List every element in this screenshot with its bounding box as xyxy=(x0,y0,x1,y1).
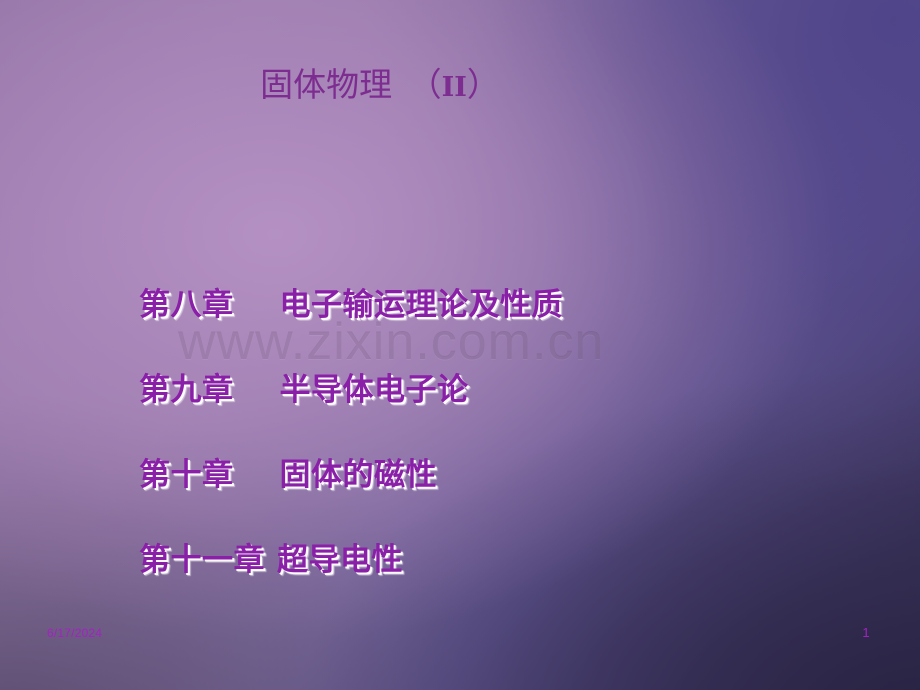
footer-date: 6/17/2024 xyxy=(47,626,102,640)
chapter-number: 第九章 xyxy=(139,372,234,408)
list-item: 第十章固体的磁性 xyxy=(139,453,839,538)
chapter-name: 超导电性 xyxy=(277,542,403,578)
list-item: 第八章电子输运理论及性质 xyxy=(139,283,839,368)
list-item: 第十一章超导电性 xyxy=(139,538,839,623)
chapter-number: 第十一章 xyxy=(139,542,265,578)
slide-title-paren-open: （ xyxy=(425,65,442,104)
chapter-number: 第十章 xyxy=(139,457,234,493)
chapter-name: 半导体电子论 xyxy=(280,372,469,408)
presentation-slide: www.zixin.com.cn 固体物理 （II） 第八章电子输运理论及性质 … xyxy=(0,0,920,690)
chapter-name: 电子输运理论及性质 xyxy=(280,287,564,323)
slide-title-spacer xyxy=(392,65,425,104)
slide-title-main: 固体物理 xyxy=(260,65,392,104)
list-item: 第九章半导体电子论 xyxy=(139,368,839,453)
chapter-name: 固体的磁性 xyxy=(280,457,438,493)
chapter-number: 第八章 xyxy=(139,287,234,323)
slide-title: 固体物理 （II） xyxy=(0,63,760,110)
slide-title-roman-numeral: II xyxy=(442,72,467,103)
chapter-list: 第八章电子输运理论及性质 第九章半导体电子论 第十章固体的磁性 第十一章超导电性 xyxy=(139,283,839,623)
footer-page-number: 1 xyxy=(856,625,876,640)
slide-title-paren-close: ） xyxy=(467,65,500,104)
